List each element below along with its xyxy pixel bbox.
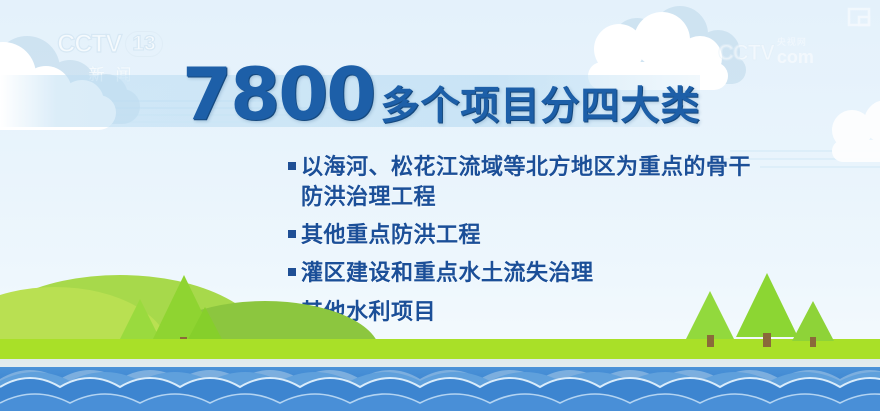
- cctv-com-watermark: CCTV 央视网 com: [718, 38, 814, 66]
- stripe-line: [760, 166, 880, 168]
- landscape-illustration: [0, 271, 880, 411]
- wave-foreground: [0, 391, 880, 411]
- watermark-cctv-text: CCTV: [718, 40, 774, 66]
- tree-canopy: [792, 301, 834, 341]
- tree-canopy: [736, 273, 798, 337]
- tree-trunk: [810, 337, 816, 347]
- list-item: 其他重点防洪工程: [288, 220, 758, 250]
- watermark-right-block: 央视网 com: [777, 38, 814, 66]
- water-body: [0, 367, 880, 411]
- tree-right-medium: [686, 291, 734, 347]
- tree-right-small: [792, 301, 834, 347]
- watermark-domain-text: com: [777, 48, 814, 66]
- cloud-far-right: [832, 112, 880, 162]
- square-bullet-icon: [288, 162, 296, 170]
- tree-trunk: [707, 335, 714, 347]
- list-item: 以海河、松花江流域等北方地区为重点的骨干防洪治理工程: [288, 152, 758, 212]
- tree-trunk: [763, 333, 771, 347]
- headline-label: 多个项目分四大类: [380, 87, 700, 126]
- headline: 7800 多个项目分四大类: [182, 58, 700, 130]
- headline-number: 7800: [182, 58, 374, 130]
- tree-right-large: [736, 273, 798, 347]
- news-graphic-stage: CCTV 13 新闻 CCTV 央视网 com 7800 多个项目分四大类 以海…: [0, 0, 880, 411]
- square-bullet-icon: [288, 230, 296, 238]
- watermark-chinese-text: 央视网: [777, 38, 814, 47]
- cctv-wordmark: CCTV: [57, 30, 121, 59]
- list-item-label: 以海河、松花江流域等北方地区为重点的骨干防洪治理工程: [301, 152, 758, 212]
- window-frame-icon: [846, 6, 872, 28]
- channel-number: 13: [125, 31, 162, 57]
- tree-canopy: [186, 307, 224, 343]
- cloud-base: [832, 140, 880, 163]
- channel-logo-row: CCTV 13: [57, 30, 162, 59]
- list-item-label: 其他重点防洪工程: [301, 220, 481, 250]
- tree-canopy: [686, 291, 734, 339]
